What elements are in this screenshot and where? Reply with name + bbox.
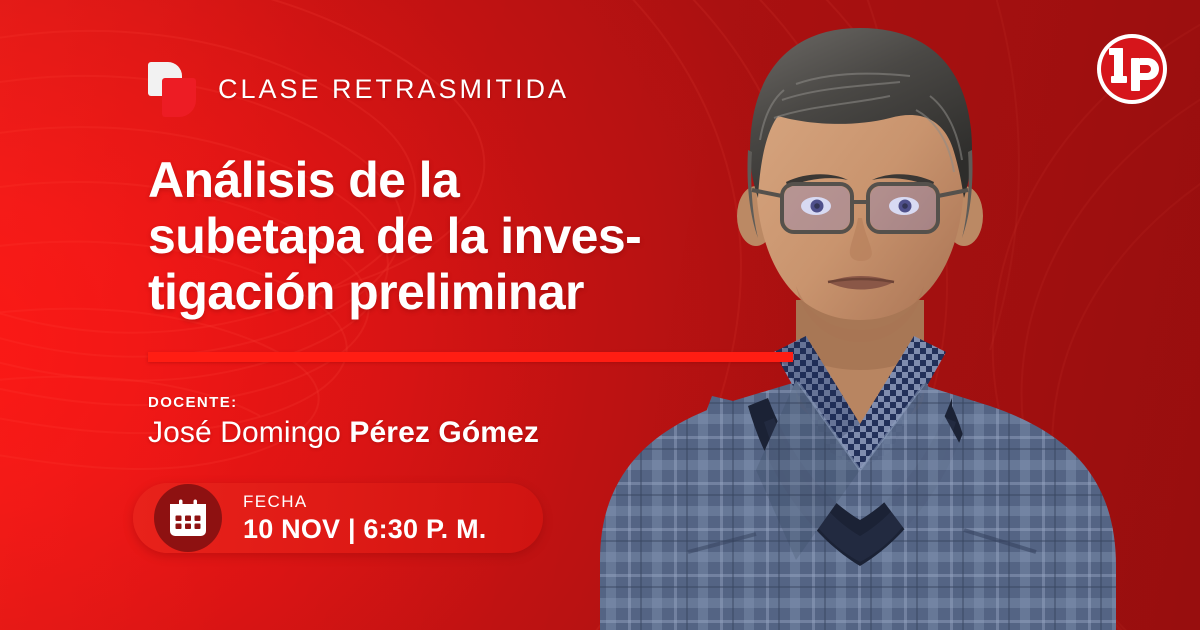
headline-line-1: Análisis de la	[148, 152, 768, 208]
instructor-given-name: José Domingo	[148, 416, 349, 449]
kicker-label: CLASE RETRASMITIDA	[218, 74, 569, 105]
date-pill[interactable]: FECHA 10 NOV | 6:30 P. M.	[133, 483, 543, 553]
date-text: FECHA 10 NOV | 6:30 P. M.	[243, 493, 486, 543]
brand-square-mark-icon	[148, 62, 196, 117]
date-label: FECHA	[243, 493, 486, 510]
divider	[148, 352, 793, 362]
headline-line-3: tigación preliminar	[148, 264, 768, 320]
headline-line-2: subetapa de la inves-	[148, 208, 768, 264]
date-value: 10 NOV | 6:30 P. M.	[243, 516, 486, 543]
kicker-row: CLASE RETRASMITIDA	[148, 62, 569, 117]
instructor-surname: Pérez Gómez	[349, 416, 539, 449]
instructor-block: DOCENTE: José Domingo Pérez Gómez	[148, 394, 539, 450]
promo-banner: CLASE RETRASMITIDA Análisis de la subeta…	[0, 0, 1200, 630]
instructor-name: José Domingo Pérez Gómez	[148, 416, 539, 450]
calendar-icon	[154, 484, 222, 552]
page-title: Análisis de la subetapa de la inves- tig…	[148, 152, 768, 320]
instructor-label: DOCENTE:	[148, 394, 539, 411]
lp-logo[interactable]	[1095, 32, 1169, 106]
